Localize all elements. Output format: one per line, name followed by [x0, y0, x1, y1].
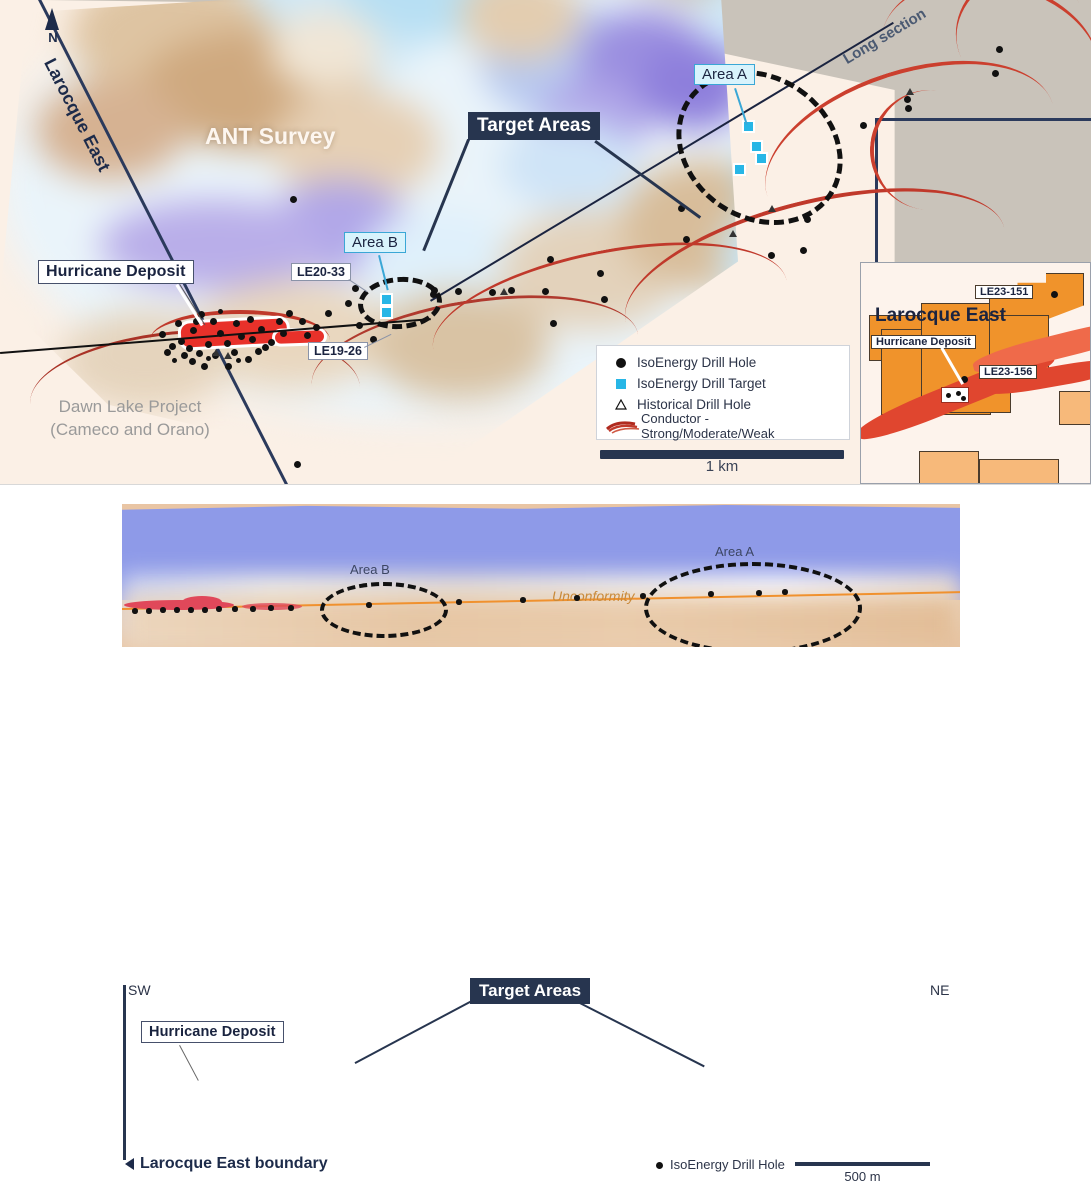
drill-hole — [768, 252, 775, 259]
inset-drill-hole — [961, 396, 966, 401]
drill-hole — [159, 331, 166, 338]
historical-drill-hole — [729, 230, 737, 237]
section-drill-hole — [160, 607, 166, 613]
inset-title: Larocque East — [875, 305, 1006, 327]
drill-target-b1 — [380, 293, 393, 306]
section-drill-hole — [366, 602, 372, 608]
drill-hole — [236, 358, 241, 363]
area-a-callout: Area A — [694, 64, 755, 85]
section-drill-hole — [268, 605, 274, 611]
drill-hole — [800, 247, 807, 254]
section-legend-label: IsoEnergy Drill Hole — [670, 1157, 785, 1172]
drill-hole — [201, 363, 208, 370]
unconformity-label: Unconformity — [552, 588, 634, 604]
drill-hole — [238, 333, 245, 340]
north-arrow: N — [40, 8, 66, 54]
section-drill-hole — [146, 608, 152, 614]
section-target-leader-a — [579, 1002, 705, 1067]
drill-hole — [860, 122, 867, 129]
legend-row-drill-target: IsoEnergy Drill Target — [605, 373, 841, 394]
section-deposit-callout: Hurricane Deposit — [141, 1021, 284, 1043]
drill-hole — [996, 46, 1003, 53]
drill-hole — [225, 363, 232, 370]
drill-hole — [345, 300, 352, 307]
drill-hole — [169, 343, 176, 350]
drill-hole — [905, 105, 912, 112]
drill-hole — [313, 324, 320, 331]
legend-label: IsoEnergy Drill Hole — [637, 355, 756, 370]
drill-hole — [286, 310, 293, 317]
area-b-callout: Area B — [344, 232, 406, 253]
drill-hole — [268, 339, 275, 346]
section-ellipse-area-a — [644, 562, 862, 647]
historical-drill-hole — [906, 88, 914, 95]
drill-hole — [508, 287, 515, 294]
inset-drill-hole — [946, 393, 951, 398]
section-deposit-leader — [175, 1045, 196, 1082]
section-drill-hole — [456, 599, 462, 605]
drill-hole — [550, 320, 557, 327]
section-drill-hole — [520, 597, 526, 603]
drill-hole — [992, 70, 999, 77]
inset-deposit-label: Hurricane Deposit — [871, 335, 976, 349]
claim-block-se — [1059, 391, 1091, 425]
drill-hole — [181, 352, 188, 359]
section-drill-hole — [708, 591, 714, 597]
drill-hole — [249, 336, 256, 343]
inset-drill-hole — [956, 391, 961, 396]
drill-hole — [172, 358, 177, 363]
legend-label: IsoEnergy Drill Target — [637, 376, 766, 391]
hole-label-le20-33: LE20-33 — [291, 263, 351, 281]
cyan-square-icon — [605, 379, 637, 389]
section-boundary-line — [123, 985, 126, 1160]
drill-hole — [231, 349, 238, 356]
drill-hole — [904, 96, 911, 103]
drill-hole — [430, 291, 437, 298]
section-drill-hole — [640, 593, 646, 599]
section-scale-label: 500 m — [795, 1169, 930, 1184]
drill-hole — [217, 330, 224, 337]
section-drill-hole — [188, 607, 194, 613]
historical-drill-hole — [224, 352, 232, 359]
drill-hole — [262, 344, 269, 351]
section-drill-hole — [202, 607, 208, 613]
drill-hole — [299, 318, 306, 325]
drill-target-a3 — [755, 152, 768, 165]
north-arrow-icon — [45, 8, 59, 30]
section-drill-hole — [216, 606, 222, 612]
drill-hole — [804, 216, 811, 223]
drill-hole — [164, 349, 171, 356]
hole-label-le19-26: LE19-26 — [308, 342, 368, 360]
section-drill-hole — [756, 590, 762, 596]
section-direction-ne: NE — [930, 982, 949, 998]
drill-hole — [683, 236, 690, 243]
legend-row-drill-hole: IsoEnergy Drill Hole — [605, 352, 841, 373]
section-area-b-label: Area B — [350, 562, 390, 577]
drill-hole — [210, 318, 217, 325]
section-scale-bar — [795, 1162, 930, 1166]
section-drill-hole — [574, 595, 580, 601]
dawn-lake-project-name: Dawn Lake Project — [30, 396, 230, 419]
filled-circle-icon — [605, 358, 637, 368]
section-target-leader-b — [355, 1000, 472, 1064]
section-ellipse-area-b — [320, 582, 448, 638]
section-legend-symbol — [656, 1162, 663, 1169]
main-map-panel: Long section — [0, 0, 1091, 484]
drill-hole — [255, 348, 262, 355]
dawn-lake-project-label: Dawn Lake Project (Cameco and Orano) — [30, 396, 230, 442]
drill-hole — [547, 256, 554, 263]
drill-hole — [206, 356, 211, 361]
section-target-areas-callout: Target Areas — [470, 978, 590, 1004]
inset-map: Larocque East Hurricane Deposit LE23-151… — [860, 262, 1091, 484]
cross-section-graphic: Area B Area A Unconformity ANT Survey — [122, 504, 960, 647]
drill-hole — [233, 320, 240, 327]
drill-hole — [489, 289, 496, 296]
section-drill-hole — [232, 606, 238, 612]
red-conductor-lines-icon — [605, 418, 641, 434]
drill-hole — [189, 358, 196, 365]
drill-hole — [597, 270, 604, 277]
drill-hole — [455, 288, 462, 295]
section-drill-hole — [174, 607, 180, 613]
drill-hole — [601, 296, 608, 303]
drill-hole — [190, 327, 197, 334]
figure-root: Long section — [0, 0, 1091, 710]
historical-drill-hole — [212, 349, 220, 356]
section-boundary-label: Larocque East boundary — [140, 1155, 328, 1173]
section-drill-hole — [132, 608, 138, 614]
drill-hole — [258, 326, 265, 333]
section-deposit-leader-line — [179, 1045, 199, 1081]
target-areas-callout: Target Areas — [468, 112, 600, 140]
section-drill-hole — [288, 605, 294, 611]
historical-drill-hole — [500, 288, 508, 295]
drill-hole — [205, 341, 212, 348]
inset-hole-label-le23-156: LE23-156 — [979, 365, 1037, 379]
drill-hole — [218, 309, 223, 314]
drill-hole — [175, 320, 182, 327]
dawn-lake-project-owners: (Cameco and Orano) — [30, 419, 230, 442]
drill-target-a4 — [733, 163, 746, 176]
drill-hole — [280, 330, 287, 337]
section-boundary-arrow-icon — [125, 1158, 134, 1170]
north-label: N — [40, 30, 66, 45]
ant-survey-label: ANT Survey — [205, 123, 335, 150]
drill-hole — [356, 322, 363, 329]
section-drill-hole — [250, 606, 256, 612]
drill-hole — [245, 356, 252, 363]
drill-hole — [542, 288, 549, 295]
inset-drill-hole — [1051, 291, 1058, 298]
drill-hole — [290, 196, 297, 203]
map-scale-label: 1 km — [600, 458, 844, 475]
section-drill-hole — [782, 589, 788, 595]
drill-hole — [325, 310, 332, 317]
drill-hole — [178, 338, 185, 345]
cross-section-panel: SW NE Area B Area A Unconformity ANT Sur… — [0, 484, 1091, 710]
inset-hole-label-le23-151: LE23-151 — [975, 285, 1033, 299]
open-triangle-icon — [605, 399, 637, 410]
drill-hole — [224, 340, 231, 347]
legend-label: Conductor - Strong/Moderate/Weak — [641, 411, 841, 441]
historical-drill-hole — [768, 205, 776, 212]
hurricane-deposit-callout: Hurricane Deposit — [38, 260, 194, 284]
claim-block-sw — [919, 451, 979, 484]
drill-hole — [186, 345, 193, 352]
drill-hole — [276, 318, 283, 325]
drill-hole — [304, 332, 311, 339]
drill-hole — [247, 316, 254, 323]
legend-row-conductor: Conductor - Strong/Moderate/Weak — [605, 415, 841, 436]
map-legend: IsoEnergy Drill Hole IsoEnergy Drill Tar… — [596, 345, 850, 440]
claim-block-s — [979, 459, 1059, 484]
drill-target-b2 — [380, 306, 393, 319]
section-direction-sw: SW — [128, 982, 151, 998]
drill-hole — [294, 461, 301, 468]
drill-hole — [196, 350, 203, 357]
section-area-a-label: Area A — [715, 544, 754, 559]
